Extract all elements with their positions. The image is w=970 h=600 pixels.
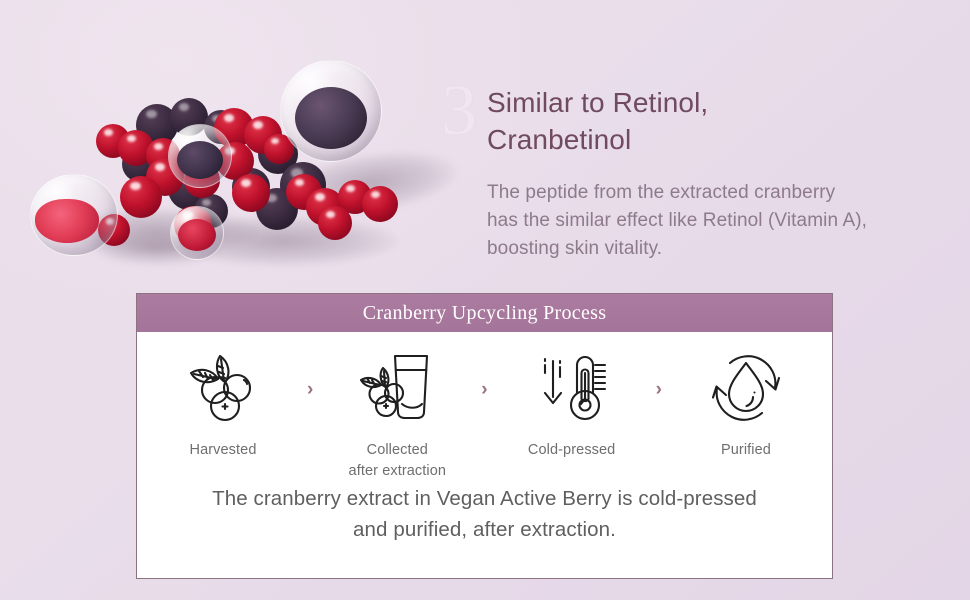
glass-sphere	[280, 60, 382, 162]
photo-stage	[18, 46, 448, 296]
process-step-purified: Purified	[682, 350, 810, 461]
headline-line-2: Cranbetinol	[487, 121, 907, 158]
process-caption: The cranberry extract in Vegan Active Be…	[137, 484, 832, 546]
caption-line-2: and purified, after extraction.	[137, 515, 832, 546]
process-step-collected: Collected after extraction	[333, 350, 461, 481]
step-label-line-1: Harvested	[190, 442, 257, 458]
sphere-inner	[178, 219, 216, 251]
description-line-2: has the similar effect like Retinol (Vit…	[487, 207, 907, 235]
headline-line-1: Similar to Retinol,	[487, 84, 907, 121]
berries-with-leaves-icon	[187, 350, 259, 426]
glass-sphere	[30, 174, 118, 256]
process-panel-title: Cranberry Upcycling Process	[363, 302, 607, 325]
description-line-1: The peptide from the extracted cranberry	[487, 179, 907, 207]
step-separator-icon: ›	[646, 350, 672, 399]
process-panel-body: Harvested ›	[137, 332, 832, 578]
process-step-label: Collected after extraction	[349, 440, 447, 481]
berry	[120, 176, 162, 218]
process-steps: Harvested ›	[137, 332, 832, 481]
step-number: 3	[441, 74, 476, 146]
glass-sphere	[170, 206, 224, 260]
caption-line-1: The cranberry extract in Vegan Active Be…	[137, 484, 832, 515]
infographic-canvas: 3 Similar to Retinol, Cranbetinol The pe…	[0, 0, 970, 600]
hero-description: The peptide from the extracted cranberry…	[487, 179, 907, 263]
juice-glass-with-berries-icon	[359, 350, 435, 426]
process-step-label: Harvested	[190, 440, 257, 461]
glass-sphere	[168, 124, 232, 188]
process-step-label: Cold-pressed	[528, 440, 615, 461]
berry	[232, 174, 270, 212]
step-separator-icon: ›	[471, 350, 497, 399]
process-panel: Cranberry Upcycling Process	[136, 293, 833, 579]
sphere-inner	[177, 141, 223, 179]
berry	[362, 186, 398, 222]
step-label-line-1: Purified	[721, 442, 771, 458]
step-label-line-2: after extraction	[349, 463, 447, 479]
process-panel-header: Cranberry Upcycling Process	[137, 294, 832, 332]
step-label-line-1: Collected	[367, 442, 428, 458]
step-label-line-1: Cold-pressed	[528, 442, 615, 458]
page-title: Similar to Retinol, Cranbetinol	[487, 84, 907, 158]
description-line-3: boosting skin vitality.	[487, 235, 907, 263]
droplet-recycle-icon	[706, 350, 786, 426]
process-step-cold-pressed: Cold-pressed	[508, 350, 636, 461]
berry	[318, 206, 352, 240]
cranberry-product-photo	[18, 46, 448, 296]
step-separator-icon: ›	[297, 350, 323, 399]
thermometer-cold-arrow-icon	[537, 350, 607, 426]
process-step-label: Purified	[721, 440, 771, 461]
process-step-harvested: Harvested	[159, 350, 287, 461]
sphere-inner	[35, 199, 99, 243]
sphere-inner	[295, 87, 367, 149]
